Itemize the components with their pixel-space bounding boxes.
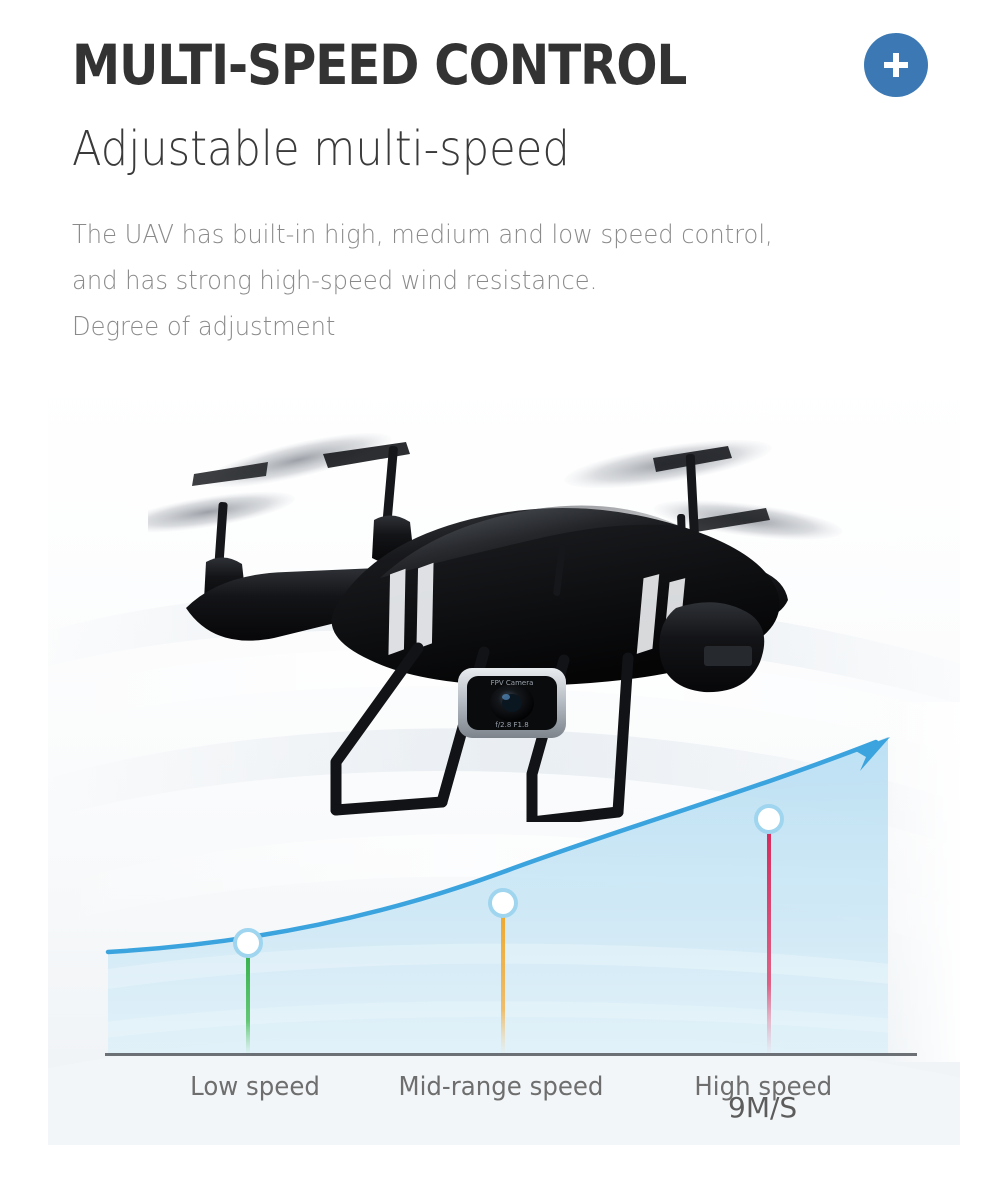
chart-marker-mid[interactable] (490, 890, 516, 916)
axis-label-high-speed: High speed (694, 1072, 832, 1102)
chart-axis-labels: Low speed Mid-range speed High speed (0, 1058, 1000, 1118)
page-title: MULTI-SPEED CONTROL (72, 28, 838, 102)
plus-badge-button[interactable] (864, 33, 928, 97)
chart-baseline-axis (105, 1053, 917, 1056)
description-line-2: and has strong high-speed wind resistanc… (72, 258, 909, 304)
plus-icon (879, 48, 913, 82)
axis-label-mid-speed: Mid-range speed (399, 1072, 604, 1102)
axis-label-low-speed: Low speed (190, 1072, 320, 1102)
chart-marker-low[interactable] (235, 930, 261, 956)
speed-curve-chart (48, 372, 960, 1145)
product-photo-panel: FPV Camera f/2.8 F1.8 (48, 372, 960, 1145)
description-line-3: Degree of adjustment (72, 304, 909, 350)
page-subtitle: Adjustable multi-speed (72, 118, 570, 180)
chart-marker-high[interactable] (756, 806, 782, 832)
page-title-row: MULTI-SPEED CONTROL (72, 28, 942, 102)
chart-stem-mid (501, 903, 505, 1055)
chart-edge-fade (886, 702, 960, 1062)
description-text: The UAV has built-in high, medium and lo… (72, 212, 909, 350)
description-line-1: The UAV has built-in high, medium and lo… (72, 212, 909, 258)
chart-stem-high (767, 820, 771, 1055)
chart-stem-low (246, 943, 250, 1055)
product-feature-page: MULTI-SPEED CONTROL Adjustable multi-spe… (0, 0, 1000, 1203)
